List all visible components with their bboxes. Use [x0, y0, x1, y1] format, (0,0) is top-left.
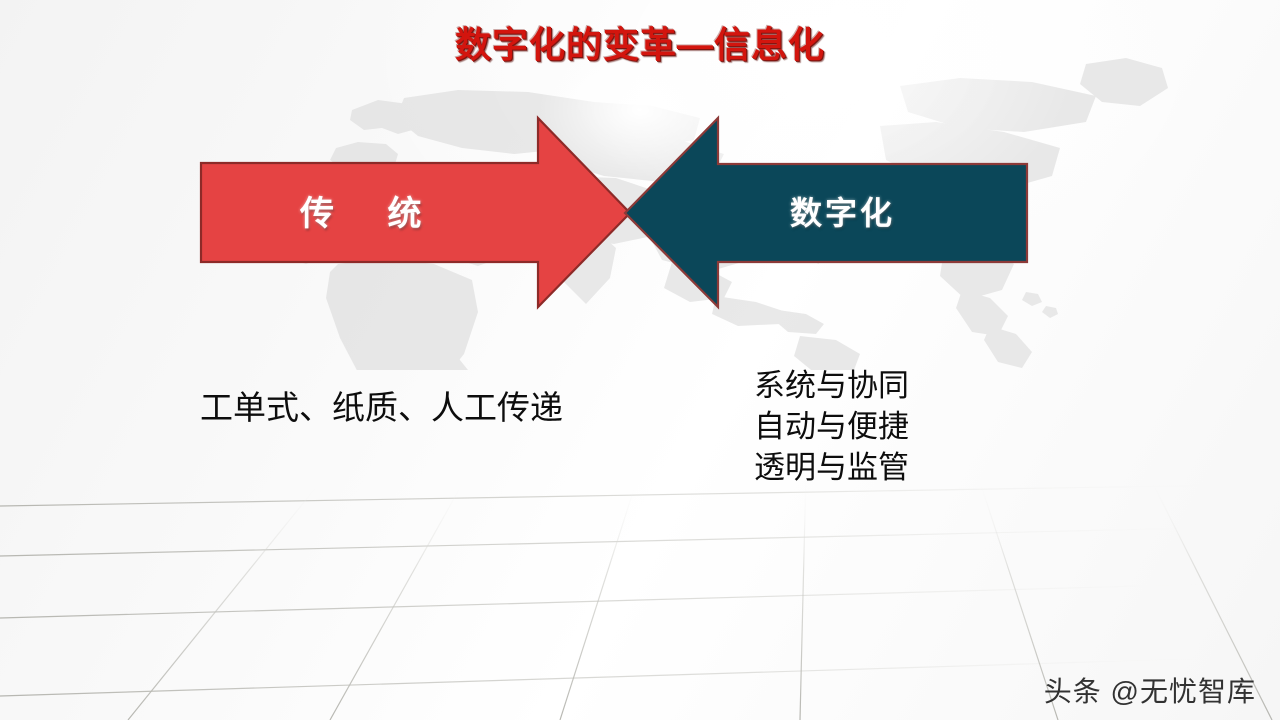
- right-caption-line-1: 系统与协同: [754, 365, 909, 406]
- right-arrow-label: 数字化: [790, 188, 895, 234]
- watermark: 头条 @无忧智库: [1044, 670, 1256, 710]
- right-caption-line-2: 自动与便捷: [754, 406, 909, 447]
- left-caption: 工单式、纸质、人工传递: [200, 381, 563, 429]
- right-caption: 系统与协同 自动与便捷 透明与监管: [754, 365, 909, 489]
- right-caption-line-3: 透明与监管: [754, 447, 909, 488]
- left-arrow-label: 传 统: [300, 186, 443, 235]
- slide-canvas: 数字化的变革—信息化 传 统 数字化 工单式、纸质、人工传递 系统与协同 自动与…: [0, 0, 1280, 720]
- page-title: 数字化的变革—信息化: [0, 16, 1280, 68]
